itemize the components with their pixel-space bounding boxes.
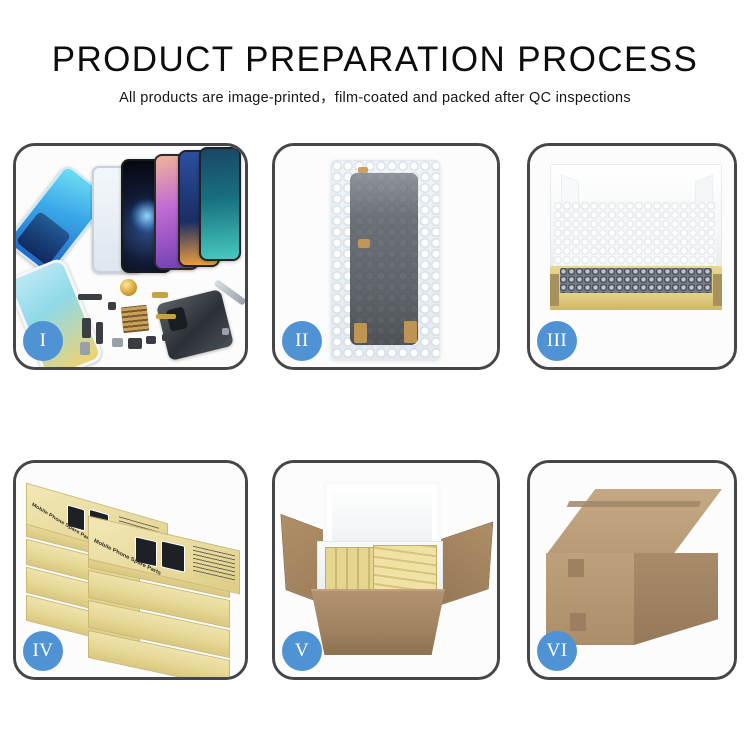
tray-corner-right — [713, 274, 722, 306]
step-panel-bubble-wrapped-screen[interactable]: II — [272, 143, 500, 370]
carton-top-face — [546, 489, 722, 555]
step-badge-4: IV — [23, 631, 63, 671]
step-panel-foam-box-in-carton[interactable]: V — [272, 460, 500, 680]
step-badge-6: VI — [537, 631, 577, 671]
step-panel-sealed-shipping-carton[interactable]: VI — [527, 460, 737, 680]
carton-body-open — [311, 589, 445, 655]
part-flex-strip-2 — [82, 318, 91, 338]
speaker-module-icon — [120, 279, 137, 296]
carton-tape-upper — [568, 559, 584, 577]
tray-corner-left — [550, 274, 559, 306]
part-flex-strip-1 — [78, 294, 102, 300]
screen-assembly-inside — [350, 173, 418, 345]
kraft-tray-front — [550, 293, 722, 310]
process-step-grid: I II — [13, 143, 737, 680]
product-preparation-infographic: PRODUCT PREPARATION PROCESS All products… — [0, 0, 750, 750]
step-panel-stacked-retail-boxes[interactable]: Mobile Phone Spare Parts Mobile Phone Sp… — [13, 460, 248, 680]
phone-teal-gradient — [199, 147, 241, 261]
flex-tab-middle — [358, 239, 370, 248]
step-badge-5: V — [282, 631, 322, 671]
phone-backplate-open — [156, 289, 234, 361]
lid-window-2b — [161, 540, 185, 573]
carton-flap-right — [437, 521, 493, 606]
step-badge-3: III — [537, 321, 577, 361]
step-badge-1: I — [23, 321, 63, 361]
part-screws-loose — [222, 328, 229, 335]
part-connector-2 — [156, 314, 176, 319]
bubble-padding-layer — [560, 268, 712, 296]
lid-spec-lines-2 — [193, 546, 235, 584]
carton-side-face — [634, 553, 718, 645]
step-panel-foam-lined-inner-box[interactable]: III — [527, 143, 737, 370]
part-sim-tray — [80, 342, 90, 355]
part-button-set — [146, 336, 156, 344]
bubble-wrap-bag — [331, 160, 440, 360]
carton-top-seam — [567, 501, 702, 507]
header: PRODUCT PREPARATION PROCESS All products… — [0, 40, 750, 107]
part-screw-set — [112, 338, 123, 347]
chipset-grid-icon — [121, 305, 150, 334]
flex-tab-top — [358, 167, 368, 173]
step-panel-parts-and-phones[interactable]: I — [13, 143, 248, 370]
carton-tape-lower — [570, 613, 586, 631]
packed-units-row-right — [373, 545, 437, 593]
flex-tab-bottom-right — [404, 321, 417, 343]
page-title: PRODUCT PREPARATION PROCESS — [0, 40, 750, 80]
part-vibrator — [162, 334, 171, 341]
part-camera-module — [128, 338, 142, 349]
flex-tab-bottom-left — [354, 323, 367, 343]
part-flex-strip-3 — [96, 322, 103, 344]
part-sensor — [108, 302, 116, 310]
foam-inner-sheet — [554, 202, 716, 268]
page-subtitle: All products are image-printed，film-coat… — [0, 89, 750, 107]
step-badge-2: II — [282, 321, 322, 361]
part-connector-1 — [152, 292, 168, 298]
